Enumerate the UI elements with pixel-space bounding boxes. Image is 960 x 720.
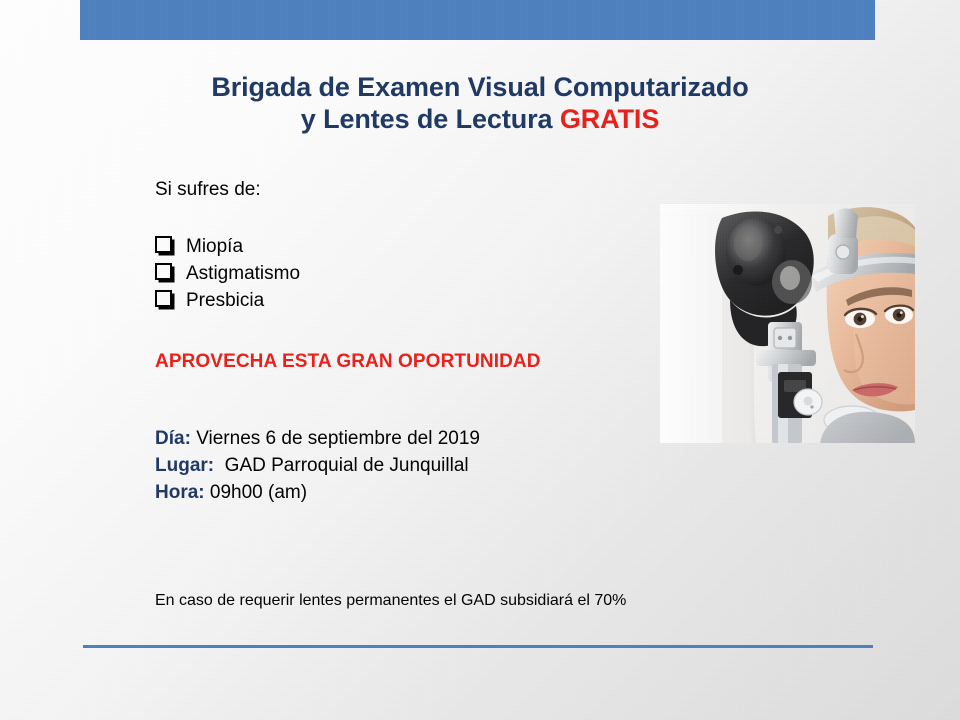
checkbox-icon xyxy=(155,263,172,280)
header-accent-bar xyxy=(80,0,875,40)
eye-exam-photo xyxy=(660,204,915,443)
symptom-label: Miopía xyxy=(186,236,243,257)
event-day-label: Día: xyxy=(155,428,191,449)
list-item: Presbicia xyxy=(155,287,300,314)
event-day-row: Día: Viernes 6 de septiembre del 2019 xyxy=(155,425,480,452)
slide-canvas: Brigada de Examen Visual Computarizado y… xyxy=(0,0,960,720)
symptom-list: Miopía Astigmatismo Presbicia xyxy=(155,233,300,314)
list-item: Astigmatismo xyxy=(155,260,300,287)
event-time-value: 09h00 (am) xyxy=(210,482,307,503)
footer-rule xyxy=(83,645,873,648)
footnote-text: En caso de requerir lentes permanentes e… xyxy=(155,592,626,610)
event-place-value: GAD Parroquial de Junquillal xyxy=(225,455,469,476)
highlight-callout: APROVECHA ESTA GRAN OPORTUNIDAD xyxy=(155,351,541,373)
event-time-row: Hora: 09h00 (am) xyxy=(155,479,480,506)
event-place-row: Lugar: GAD Parroquial de Junquillal xyxy=(155,452,480,479)
checkbox-icon xyxy=(155,236,172,253)
title-highlight-gratis: GRATIS xyxy=(560,104,659,134)
event-day-value: Viernes 6 de septiembre del 2019 xyxy=(196,428,480,449)
intro-text: Si sufres de: xyxy=(155,179,261,201)
page-title: Brigada de Examen Visual Computarizado y… xyxy=(80,72,880,136)
symptom-label: Astigmatismo xyxy=(186,263,300,284)
title-line-1: Brigada de Examen Visual Computarizado xyxy=(80,72,880,104)
checkbox-icon xyxy=(155,290,172,307)
event-time-label: Hora: xyxy=(155,482,205,503)
title-line-2-prefix: y Lentes de Lectura xyxy=(301,104,560,134)
eye-exam-illustration xyxy=(660,204,915,443)
event-details-block: Día: Viernes 6 de septiembre del 2019 Lu… xyxy=(155,425,480,506)
list-item: Miopía xyxy=(155,233,300,260)
symptom-label: Presbicia xyxy=(186,290,264,311)
event-place-label: Lugar: xyxy=(155,455,214,476)
title-line-2: y Lentes de Lectura GRATIS xyxy=(80,104,880,136)
